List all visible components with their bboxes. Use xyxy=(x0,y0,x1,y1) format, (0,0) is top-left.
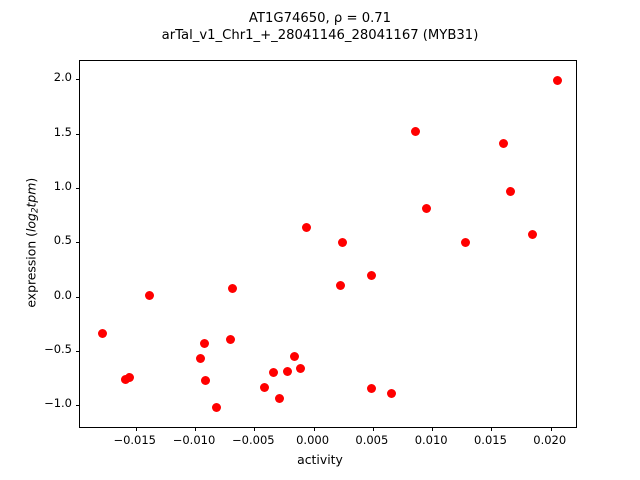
x-tick-label: −0.005 xyxy=(232,433,275,447)
data-point xyxy=(290,352,299,361)
x-axis-tick xyxy=(195,427,196,431)
data-point xyxy=(260,383,269,392)
y-axis-label-prefix: expression ( xyxy=(23,232,38,308)
data-point xyxy=(296,364,305,373)
plot-data-area xyxy=(80,61,576,427)
data-point xyxy=(226,335,235,344)
data-point xyxy=(200,339,209,348)
chart-title: AT1G74650, ρ = 0.71 arTal_v1_Chr1_+_2804… xyxy=(0,10,640,44)
data-point xyxy=(98,329,107,338)
data-point xyxy=(336,281,345,290)
y-axis-tick xyxy=(76,405,80,406)
y-axis-label-math-unit: tpm xyxy=(23,183,38,208)
data-point xyxy=(338,238,347,247)
data-point xyxy=(461,238,470,247)
x-tick-label: 0.005 xyxy=(355,433,388,447)
y-axis-tick xyxy=(76,134,80,135)
data-point xyxy=(411,127,420,136)
data-point xyxy=(528,230,537,239)
y-axis-label-math-sub: 2 xyxy=(31,207,41,213)
x-tick-label: 0.015 xyxy=(474,433,507,447)
y-axis-tick xyxy=(76,297,80,298)
data-point xyxy=(367,384,376,393)
x-axis-tick xyxy=(551,427,552,431)
x-tick-label: 0.020 xyxy=(533,433,566,447)
y-axis-tick xyxy=(76,351,80,352)
data-point xyxy=(387,389,396,398)
x-tick-label: −0.010 xyxy=(173,433,216,447)
x-axis-tick xyxy=(254,427,255,431)
y-axis-label-math-base: log xyxy=(23,213,38,232)
data-point xyxy=(212,403,221,412)
data-point xyxy=(196,354,205,363)
data-point xyxy=(506,187,515,196)
data-point xyxy=(283,367,292,376)
data-point xyxy=(125,373,134,382)
data-point xyxy=(367,271,376,280)
x-tick-label: −0.015 xyxy=(113,433,156,447)
data-point xyxy=(145,291,154,300)
data-point xyxy=(269,368,278,377)
x-tick-label: 0.010 xyxy=(415,433,448,447)
x-axis-tick xyxy=(491,427,492,431)
x-axis-tick xyxy=(314,427,315,431)
data-point xyxy=(228,284,237,293)
data-point xyxy=(553,76,562,85)
plot-axes xyxy=(79,60,577,428)
x-axis-label: activity xyxy=(0,452,640,467)
chart-title-line-1: AT1G74650, ρ = 0.71 xyxy=(0,10,640,27)
data-point xyxy=(275,394,284,403)
x-tick-label: 0.000 xyxy=(296,433,329,447)
data-point xyxy=(201,376,210,385)
y-axis-tick xyxy=(76,79,80,80)
y-axis-tick xyxy=(76,242,80,243)
scatter-plot-figure: AT1G74650, ρ = 0.71 arTal_v1_Chr1_+_2804… xyxy=(0,0,640,480)
y-axis-label: expression (log2tpm) xyxy=(23,43,40,443)
data-point xyxy=(302,223,311,232)
x-axis-tick xyxy=(373,427,374,431)
y-axis-tick xyxy=(76,188,80,189)
x-axis-tick xyxy=(136,427,137,431)
x-axis-tick xyxy=(432,427,433,431)
data-point xyxy=(499,139,508,148)
data-point xyxy=(422,204,431,213)
y-axis-label-suffix: ) xyxy=(23,178,38,183)
chart-title-line-2: arTal_v1_Chr1_+_28041146_28041167 (MYB31… xyxy=(0,27,640,44)
